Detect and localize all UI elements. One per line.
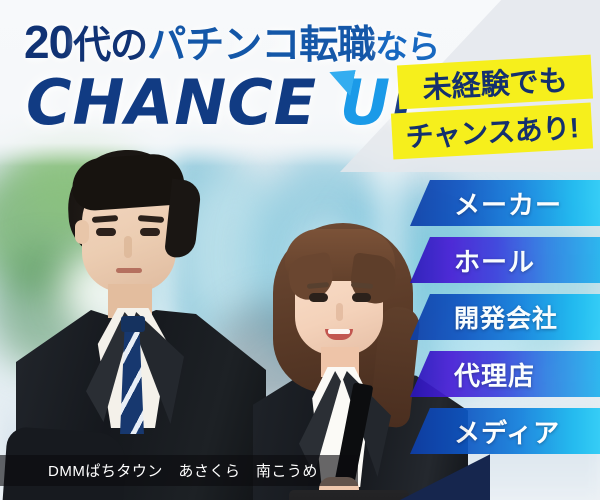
category-tag-developer[interactable]: 開発会社 bbox=[410, 294, 600, 340]
headline-dai: 代の bbox=[73, 25, 147, 67]
category-tag-media[interactable]: メディア bbox=[410, 408, 600, 454]
advertisement-banner[interactable]: 20代のパチンコ転職なら CHANCE UP 未経験でも チャンスあり! メーカ… bbox=[0, 0, 600, 500]
category-tag-label: ホール bbox=[454, 242, 535, 279]
man-tie-knot bbox=[121, 316, 145, 332]
category-tag-label: メディア bbox=[454, 413, 560, 450]
credit-caption-bar: DMMぱちタウン あさくら 南こうめ bbox=[0, 455, 358, 486]
woman-tote-bag bbox=[289, 490, 409, 500]
category-tag-label: 開発会社 bbox=[454, 299, 558, 335]
woman-eye-left bbox=[309, 293, 328, 302]
man-eye-right bbox=[140, 228, 160, 236]
man-eye-left bbox=[96, 228, 116, 236]
headline-suffix: なら bbox=[375, 28, 439, 65]
badge-label: 未経験でも bbox=[421, 57, 568, 107]
man-nose bbox=[124, 236, 132, 258]
headline-line-1: 20代のパチンコ転職なら bbox=[24, 14, 439, 70]
credit-caption-text: DMMぱちタウン あさくら 南こうめ bbox=[48, 460, 318, 481]
man-ear-left bbox=[75, 220, 89, 244]
woman-eye-right bbox=[352, 293, 371, 302]
category-tag-label: 代理店 bbox=[454, 356, 535, 393]
woman-nose bbox=[336, 303, 343, 321]
headline-line-2: CHANCE UP bbox=[26, 72, 438, 134]
category-tag-maker[interactable]: メーカー bbox=[410, 180, 600, 226]
man-hair-fringe bbox=[70, 152, 185, 212]
photo-businessman bbox=[20, 150, 250, 500]
category-tag-agency[interactable]: 代理店 bbox=[410, 351, 600, 397]
category-tag-hall[interactable]: ホール bbox=[410, 237, 600, 283]
headline-number: 20 bbox=[24, 16, 73, 68]
chance-word: CHANCE bbox=[26, 66, 340, 139]
man-mouth bbox=[116, 268, 142, 273]
woman-teeth bbox=[328, 329, 350, 334]
badge-label: チャンスあり! bbox=[405, 106, 580, 156]
category-tag-label: メーカー bbox=[454, 185, 562, 222]
category-tag-list: メーカー ホール 開発会社 代理店 メディア bbox=[410, 180, 600, 465]
headline-keyword: パチンコ転職 bbox=[147, 24, 375, 67]
